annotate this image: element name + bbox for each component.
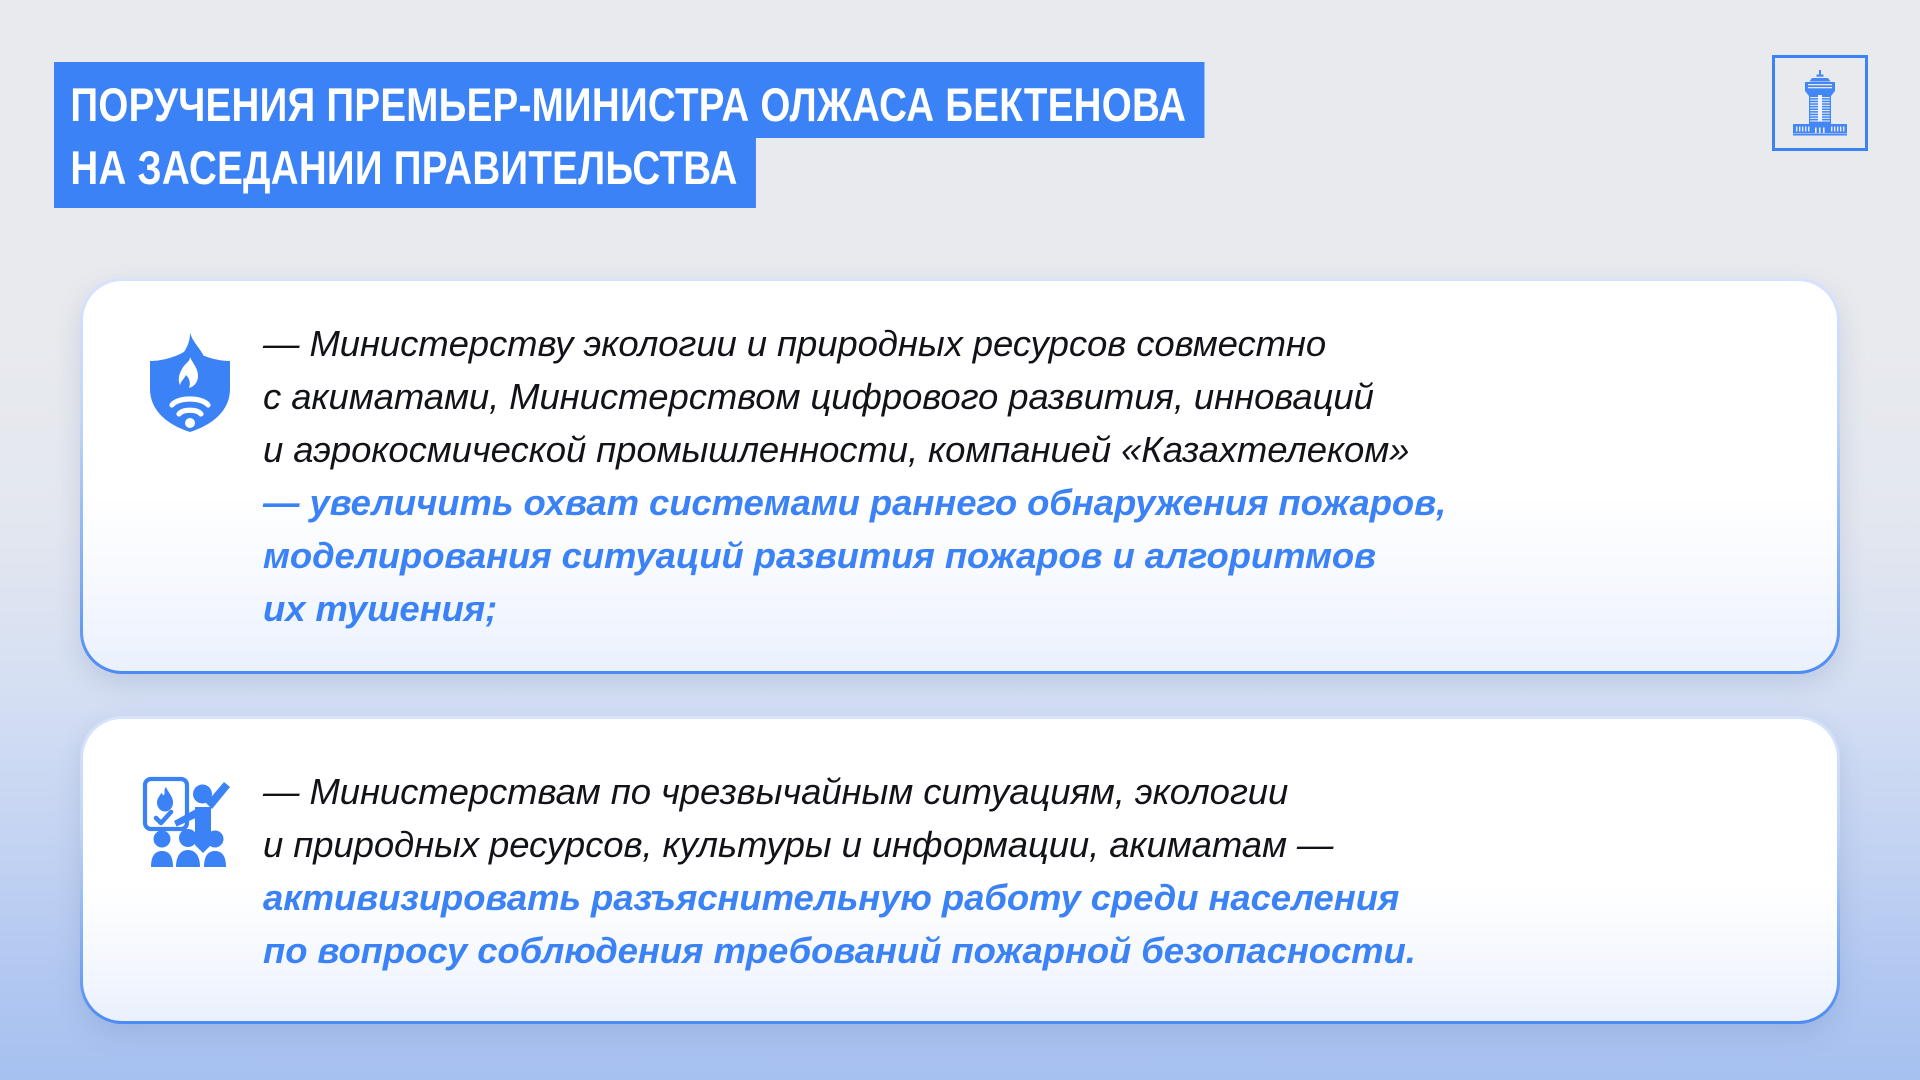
text-line: и аэрокосмической промышленности, компан… <box>263 423 1797 476</box>
text-line: по вопросу соблюдения требований пожарно… <box>263 924 1797 977</box>
fire-shield-detection-icon <box>127 315 253 435</box>
text-line: с акиматами, Министерством цифрового раз… <box>263 370 1797 423</box>
text-line: — увеличить охват системами раннего обна… <box>263 476 1797 529</box>
directives-list: — Министерству экологии и природных ресу… <box>80 278 1840 1066</box>
header: Поручения Премьер-Министра Олжаса Бектен… <box>0 0 1920 230</box>
title-line-1: Поручения Премьер-Министра Олжаса Бектен… <box>54 62 1204 138</box>
page-title: Поручения Премьер-Министра Олжаса Бектен… <box>54 62 1457 208</box>
government-house-emblem-icon <box>1772 55 1868 151</box>
text-line: активизировать разъяснительную работу ср… <box>263 871 1797 924</box>
text-line: — Министерствам по чрезвычайным ситуация… <box>263 765 1797 818</box>
text-line: их тушения; <box>263 582 1797 635</box>
directive-card-2-text: — Министерствам по чрезвычайным ситуация… <box>253 765 1797 977</box>
text-line: — Министерству экологии и природных ресу… <box>263 317 1797 370</box>
directive-card-1-text: — Министерству экологии и природных ресу… <box>253 315 1797 635</box>
directive-card-2: — Министерствам по чрезвычайным ситуация… <box>80 716 1840 1024</box>
fire-safety-briefing-icon <box>127 765 253 869</box>
directive-card-1: — Министерству экологии и природных ресу… <box>80 278 1840 674</box>
text-line: моделирования ситуаций развития пожаров … <box>263 529 1797 582</box>
title-line-2: на заседании Правительства <box>54 138 756 208</box>
text-line: и природных ресурсов, культуры и информа… <box>263 818 1797 871</box>
